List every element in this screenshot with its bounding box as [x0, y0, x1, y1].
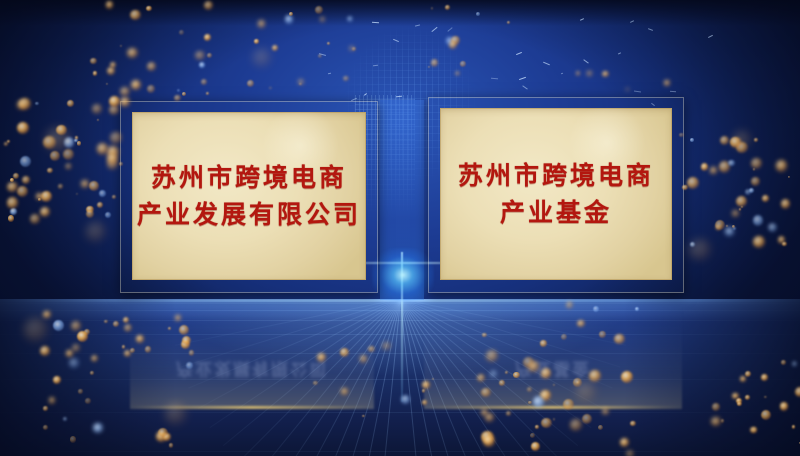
center-light-burst [372, 248, 434, 302]
background-top-shadow [0, 0, 800, 26]
plaque-right[interactable]: 苏州市跨境电商 产业基金 [428, 97, 684, 293]
plaque-right-line1: 苏州市跨境电商 [458, 158, 654, 194]
reflective-grid-floor: 产业发展有限公司 产业基金 [0, 299, 800, 456]
plaque-right-line2: 产业基金 [500, 195, 612, 231]
floor-edge-shadow [0, 299, 800, 456]
video-frame: 产业发展有限公司 产业基金 苏州市跨境电商 产业发展有限公司 苏州市跨境电商 产… [0, 0, 800, 456]
plaque-left-line1: 苏州市跨境电商 [151, 160, 347, 196]
plaque-left-line2: 产业发展有限公司 [137, 197, 361, 233]
plaque-right-panel: 苏州市跨境电商 产业基金 [440, 108, 672, 280]
plaque-left[interactable]: 苏州市跨境电商 产业发展有限公司 [120, 101, 378, 293]
plaque-left-panel: 苏州市跨境电商 产业发展有限公司 [132, 112, 366, 280]
